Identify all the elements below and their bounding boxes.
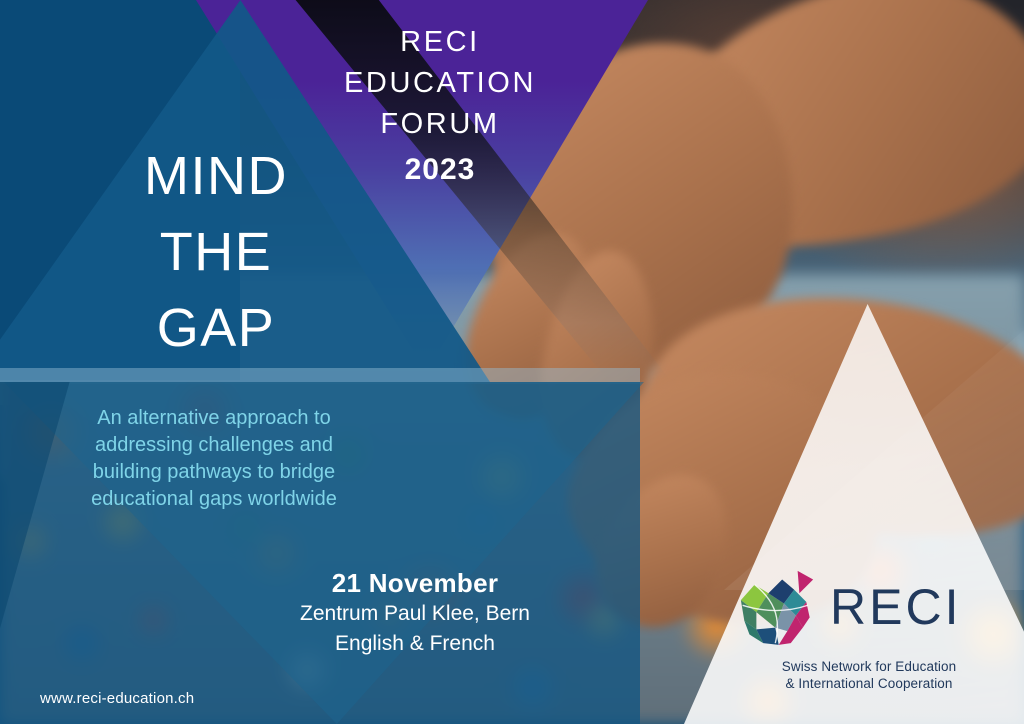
reci-globe-icon — [734, 564, 820, 650]
forum-year: 2023 — [300, 153, 580, 187]
page-title-line-2: THE — [96, 214, 336, 290]
reci-tagline-line-1: Swiss Network for Education — [782, 659, 957, 674]
event-languages: English & French — [290, 630, 540, 658]
page-title-line-1: MIND — [96, 138, 336, 214]
page-title: MIND THE GAP — [96, 138, 336, 366]
reci-tagline-line-2: & International Cooperation — [785, 676, 952, 691]
event-details: 21 November Zentrum Paul Klee, Bern Engl… — [290, 566, 540, 658]
forum-heading-line-1: RECI — [300, 22, 580, 63]
reci-logo: RECI Swiss Network for Education & Inter… — [734, 564, 1004, 692]
forum-heading-line-2: EDUCATION — [300, 63, 580, 104]
reci-wordmark: RECI — [830, 582, 961, 632]
forum-heading-line-3: FORUM — [300, 104, 580, 145]
event-poster: RECI EDUCATION FORUM 2023 MIND THE GAP A… — [0, 0, 1024, 724]
reci-tagline: Swiss Network for Education & Internatio… — [734, 658, 1004, 692]
event-date: 21 November — [290, 566, 540, 600]
forum-heading: RECI EDUCATION FORUM 2023 — [300, 22, 580, 187]
poster-subtitle: An alternative approach to addressing ch… — [88, 405, 340, 513]
website-url[interactable]: www.reci-education.ch — [40, 690, 194, 707]
page-title-line-3: GAP — [96, 290, 336, 366]
event-venue: Zentrum Paul Klee, Bern — [290, 600, 540, 628]
